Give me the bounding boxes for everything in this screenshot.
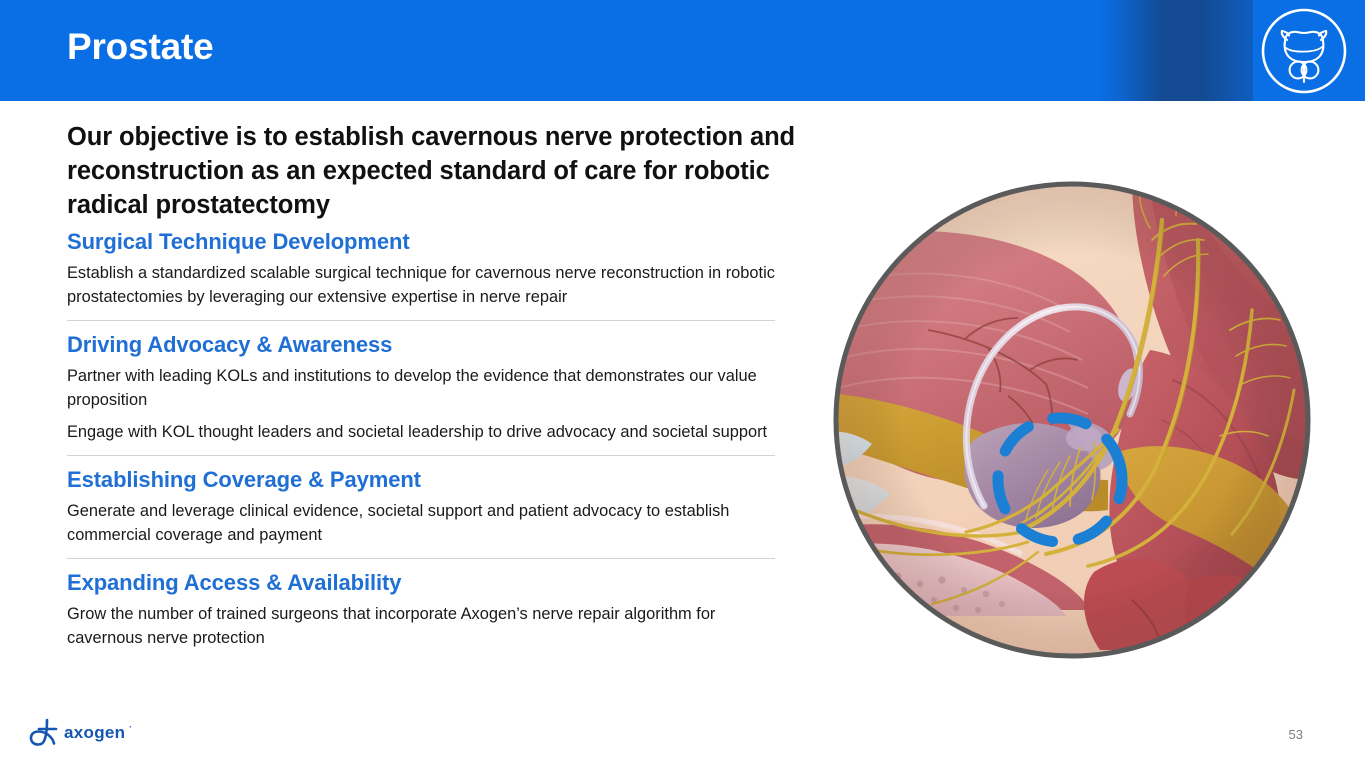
section-paragraph: Generate and leverage clinical evidence,…	[67, 499, 777, 547]
slide-header-band: Prostate	[0, 0, 1365, 101]
section-paragraph: Partner with leading KOLs and institutio…	[67, 364, 777, 412]
axogen-logo: axogen·	[26, 716, 148, 750]
section-expanding-access-availability: Expanding Access & Availability Grow the…	[67, 569, 837, 650]
section-heading: Expanding Access & Availability	[67, 569, 837, 597]
section-paragraph: Establish a standardized scalable surgic…	[67, 261, 777, 309]
header-background-photo	[1098, 0, 1253, 101]
prostate-cavernous-nerve-anatomy-illustration	[832, 180, 1312, 660]
axogen-wordmark: axogen·	[64, 723, 125, 743]
axogen-a-mark-icon	[26, 716, 60, 751]
section-divider	[67, 320, 775, 321]
page-number: 53	[1289, 727, 1303, 742]
objective-statement: Our objective is to establish cavernous …	[67, 120, 839, 222]
page-title: Prostate	[67, 26, 213, 68]
section-heading: Driving Advocacy & Awareness	[67, 331, 837, 359]
section-heading: Surgical Technique Development	[67, 228, 837, 256]
section-establishing-coverage-payment: Establishing Coverage & Payment Generate…	[67, 466, 837, 547]
slide-content-column: Our objective is to establish cavernous …	[67, 120, 837, 658]
section-paragraph: Grow the number of trained surgeons that…	[67, 602, 777, 650]
section-surgical-technique-development: Surgical Technique Development Establish…	[67, 228, 837, 309]
trademark-mark: ·	[129, 722, 132, 732]
section-divider	[67, 558, 775, 559]
section-divider	[67, 455, 775, 456]
bladder-prostate-anatomy-icon	[1259, 6, 1349, 96]
header-photo-right-fade	[1098, 0, 1253, 101]
section-heading: Establishing Coverage & Payment	[67, 466, 837, 494]
section-driving-advocacy-awareness: Driving Advocacy & Awareness Partner wit…	[67, 331, 837, 444]
section-paragraph: Engage with KOL thought leaders and soci…	[67, 420, 777, 444]
